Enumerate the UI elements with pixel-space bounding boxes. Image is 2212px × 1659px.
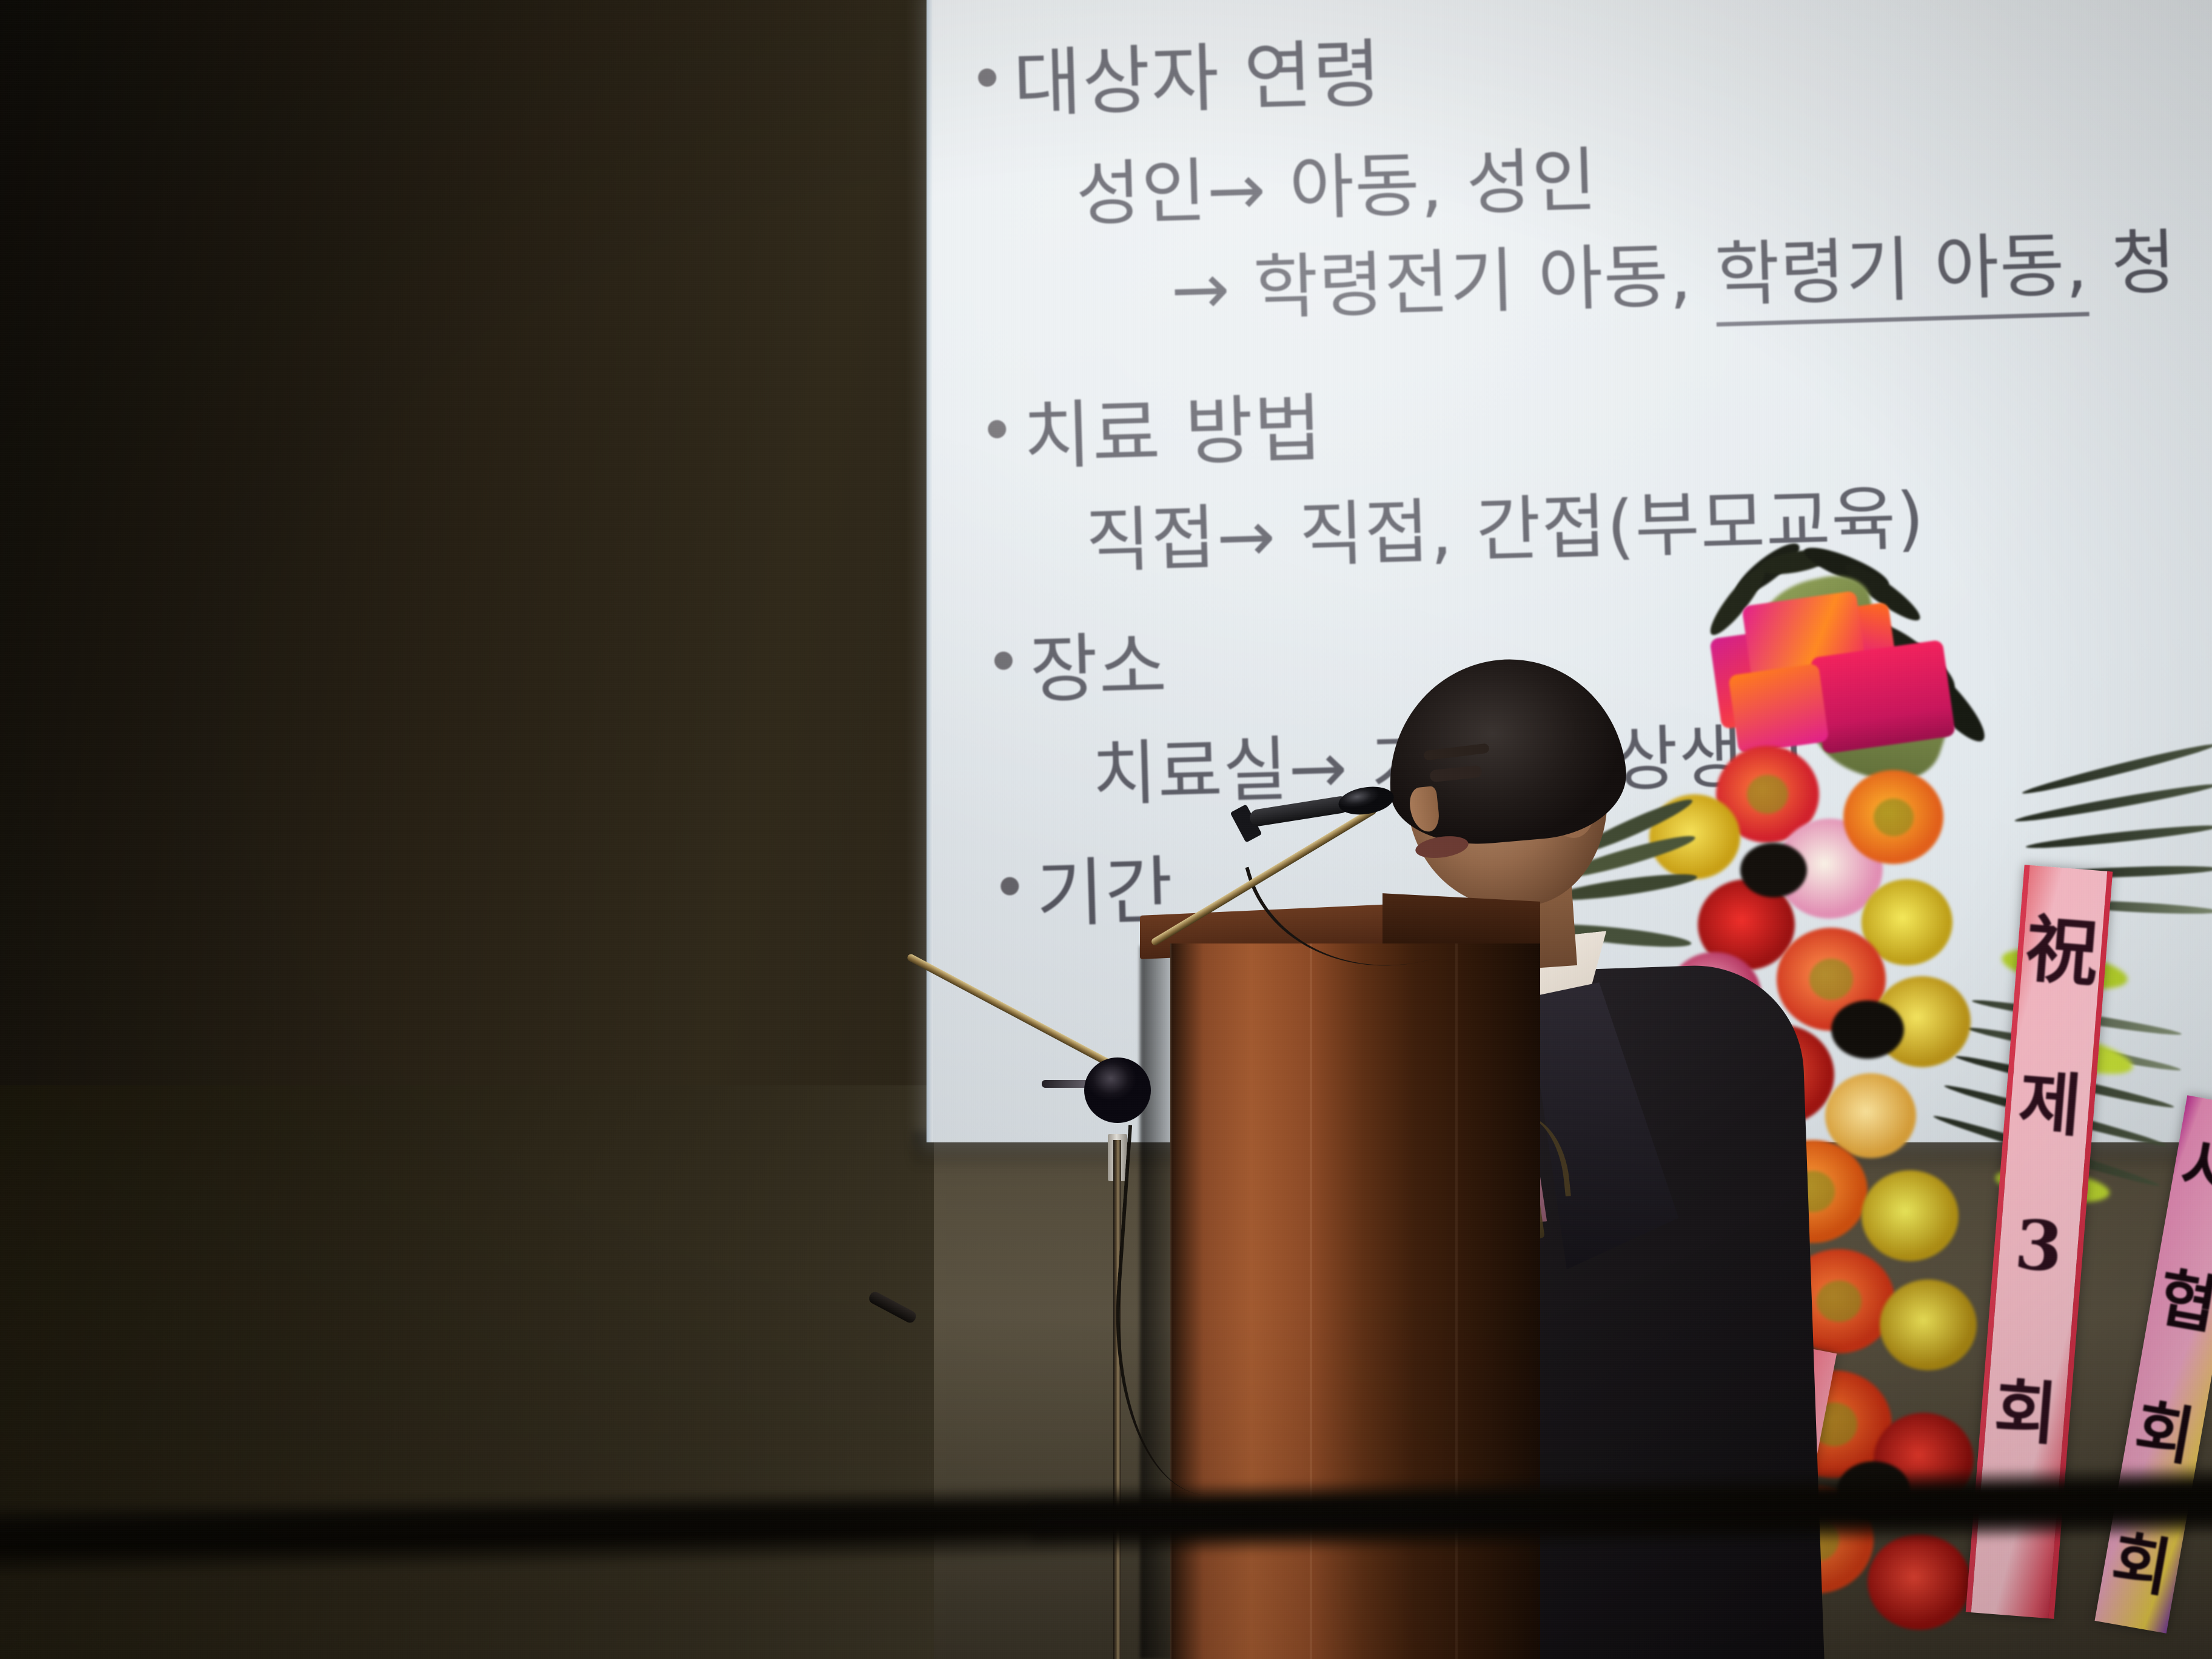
ribbon-char-three: 3: [1997, 1204, 2080, 1289]
photograph-scene: 대상자 연령 성인→ 아동, 성인 → 학령전기 아동, 학령기 아동, 청 치…: [0, 0, 2212, 1659]
bullet-dot-icon: [1000, 877, 1019, 896]
bullet-dot-icon: [978, 69, 997, 87]
far-ribbon-char-3: 회: [2122, 1376, 2209, 1479]
boom-stand-pole: [1113, 1140, 1121, 1659]
far-ribbon-char-1: 사: [2168, 1113, 2212, 1216]
far-ribbon-char-2: 협: [2145, 1244, 2212, 1347]
ribbon-char-je: 제: [2008, 1047, 2093, 1151]
bullet-dot-icon: [988, 420, 1007, 438]
slide-underlined-fragment: 학령기 아동,: [1714, 224, 2090, 326]
slide-heading-treatment-method: 치료 방법: [1022, 369, 1324, 484]
slide-subline-target-age-2-text: → 학령전기 아동, 학령기 아동, 청: [1170, 221, 2177, 331]
ribbon-char-hoe: 회: [1983, 1355, 2068, 1459]
ribbon-char-chuk: 祝: [2020, 890, 2105, 1001]
slide-subline-target-age-1: 성인→ 아동, 성인: [1074, 123, 1598, 240]
boom-stand-clutch-hub[interactable]: [1084, 1057, 1151, 1123]
bullet-dot-icon: [994, 651, 1013, 670]
slide-heading-place: 장소: [1028, 606, 1169, 717]
wreath-ribbon-far-right: 사 협 회 회: [2095, 1095, 2212, 1633]
slide-heading-target-age: 대상자 연령: [1012, 14, 1383, 132]
